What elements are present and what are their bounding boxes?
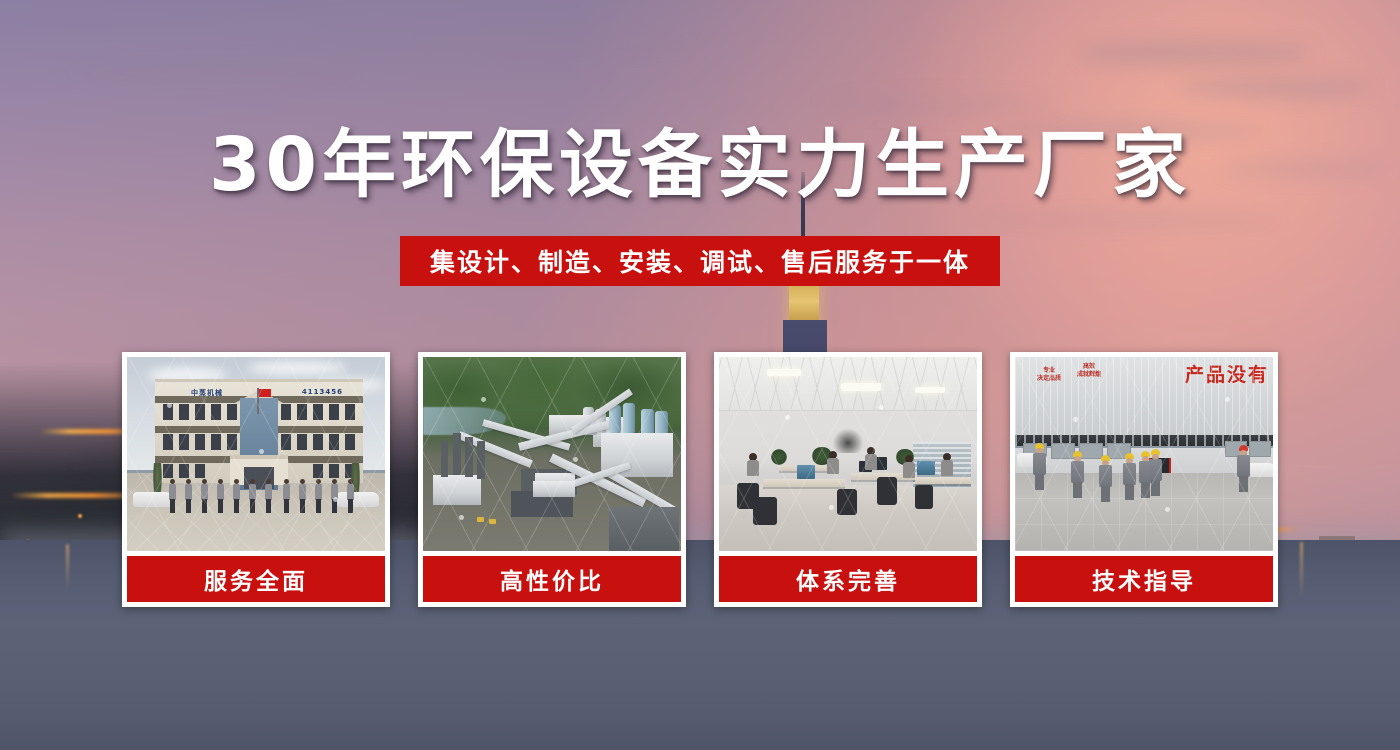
factory-slogan-1b: 决定品质 [1037,375,1061,382]
card-caption-value: 高性价比 [423,556,681,602]
factory-slogan-1: 专业 [1043,367,1055,374]
photo-aerial-plant [423,357,681,551]
photo-workers-training: 产品没有 专业 决定品质 高效 成就辉煌 [1015,357,1273,551]
feature-card-value[interactable]: 高性价比 [418,352,686,607]
feature-card-service[interactable]: 中蒸机械 4113456 [122,352,390,607]
feature-card-guidance[interactable]: 产品没有 专业 决定品质 高效 成就辉煌 [1010,352,1278,607]
card-caption-service: 服务全面 [127,556,385,602]
factory-slogan-2: 高效 [1083,363,1095,370]
card-caption-guidance: 技术指导 [1015,556,1273,602]
photo-office-interior [719,357,977,551]
hero-banner: 30年环保设备实力生产厂家 集设计、制造、安装、调试、售后服务于一体 [0,0,1400,750]
page-title: 30年环保设备实力生产厂家 [0,128,1400,202]
photo-office-building: 中蒸机械 4113456 [127,357,385,551]
factory-slogan-2b: 成就辉煌 [1077,371,1101,378]
feature-card-grid: 中蒸机械 4113456 [122,352,1278,607]
card-caption-system: 体系完善 [719,556,977,602]
subtitle-banner: 集设计、制造、安装、调试、售后服务于一体 [400,236,1000,286]
building-phone-text: 4113456 [302,388,343,396]
building-sign-text: 中蒸机械 [191,388,223,398]
factory-wall-headline: 产品没有 [1185,360,1269,387]
feature-card-system[interactable]: 体系完善 [714,352,982,607]
